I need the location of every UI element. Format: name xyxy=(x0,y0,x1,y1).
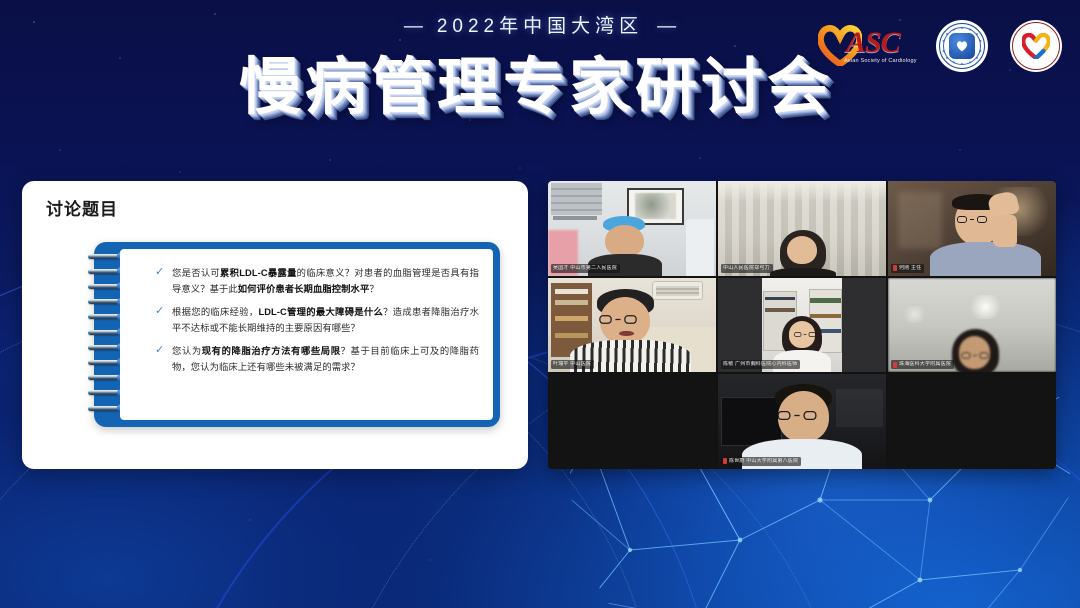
participant-tile-1[interactable]: 吴国才 中山市第二人民医院 xyxy=(548,181,716,276)
participant-name: 叶瑞平 中山医院 xyxy=(553,361,591,368)
guangdong-heart-logo xyxy=(1010,20,1062,72)
asc-acronym: ASC xyxy=(846,26,900,60)
topic-bullet: ✓您是否认可累积LDL-C暴露量的临床意义？对患者的血脂管理是否具有指导意义？基… xyxy=(172,265,479,297)
topic-emphasis: LDL-C管理的最大障碍是什么 xyxy=(258,307,383,317)
participant-name: 陈世蔚 中山大学附属第八医院 xyxy=(729,458,798,465)
participant-name: 珠海医科大学附属医院 xyxy=(899,361,951,368)
page-header: —2022年中国大湾区— 慢病管理专家研讨会 ASC Asia xyxy=(0,0,1080,132)
participant-name: 何刚 主任 xyxy=(899,265,921,272)
asc-logo: ASC Asian Society of Cardiology xyxy=(818,20,914,72)
muted-mic-icon xyxy=(893,265,897,271)
topic-emphasis: 现有的降脂治疗方法有哪些局限 xyxy=(202,346,341,356)
topics-list: ✓您是否认可累积LDL-C暴露量的临床意义？对患者的血脂管理是否具有指导意义？基… xyxy=(172,265,479,382)
participant-tile-5[interactable]: 陈敏 广州市胸科医院心内科医师 xyxy=(718,278,886,373)
topic-bullet: ✓您认为现有的降脂治疗方法有哪些局限？基于目前临床上可及的降脂药物，您认为临床上… xyxy=(172,343,479,375)
check-icon: ✓ xyxy=(155,306,166,317)
logo-group: ASC Asian Society of Cardiology xyxy=(818,20,1062,72)
participant-tile-4[interactable]: 叶瑞平 中山医院 xyxy=(548,278,716,373)
discussion-topics-panel: 讨论题目 ✓您是否认可累积LDL-C暴露量的临床意义？对患者的血脂管理是否具有指… xyxy=(22,181,528,469)
participant-name-bar: 陈敏 广州市胸科医院心内科医师 xyxy=(721,360,800,369)
notebook-card: ✓您是否认可累积LDL-C暴露量的临床意义？对患者的血脂管理是否具有指导意义？基… xyxy=(94,242,500,427)
kicker-dash-right: — xyxy=(657,16,676,38)
topic-text: 您是否认可累积LDL-C暴露量的临床意义？对患者的血脂管理是否具有指导意义？基于… xyxy=(172,265,479,297)
participant-name-bar: 陈世蔚 中山大学附属第八医院 xyxy=(721,457,801,466)
participant-tile-8[interactable]: 陈世蔚 中山大学附属第八医院 xyxy=(718,374,886,469)
check-icon: ✓ xyxy=(155,267,166,278)
asc-subtitle: Asian Society of Cardiology xyxy=(844,58,914,64)
society-seal-logo xyxy=(936,20,988,72)
participant-name: 中山人民医院郑弓力 xyxy=(723,265,770,272)
kicker-text: 2022年中国大湾区 xyxy=(437,16,643,37)
topic-plain: 您是否认可 xyxy=(172,268,220,278)
participant-tile-3[interactable]: 何刚 主任 xyxy=(888,181,1056,276)
presentation-stage: —2022年中国大湾区— 慢病管理专家研讨会 ASC Asia xyxy=(0,0,1080,608)
participant-name-bar: 珠海医科大学附属医院 xyxy=(891,360,954,369)
muted-mic-icon xyxy=(893,362,897,368)
tricolor-heart-icon xyxy=(1022,33,1050,59)
participant-tile-6[interactable]: 珠海医科大学附属医院 xyxy=(888,278,1056,373)
muted-mic-icon xyxy=(723,458,727,464)
topic-emphasis: 如何评价患者长期血脂控制水平 xyxy=(238,284,370,294)
participant-name: 陈敏 广州市胸科医院心内科医师 xyxy=(723,361,797,368)
participant-tile-2[interactable]: 中山人民医院郑弓力 xyxy=(718,181,886,276)
participant-tile-7[interactable] xyxy=(548,374,716,469)
participant-name-bar: 叶瑞平 中山医院 xyxy=(551,360,594,369)
participant-tile-9[interactable] xyxy=(888,374,1056,469)
participant-name-bar: 吴国才 中山市第二人民医院 xyxy=(551,264,620,273)
video-conference-grid[interactable]: 吴国才 中山市第二人民医院 中山人民医院郑弓力 何刚 主任 叶瑞平 中山医院 xyxy=(548,181,1056,469)
panel-title: 讨论题目 xyxy=(46,195,118,220)
topic-plain: ？ xyxy=(369,284,378,294)
notebook-page: ✓您是否认可累积LDL-C暴露量的临床意义？对患者的血脂管理是否具有指导意义？基… xyxy=(120,249,493,420)
topic-emphasis: 累积LDL-C暴露量 xyxy=(220,268,297,278)
topic-bullet: ✓根据您的临床经验，LDL-C管理的最大障碍是什么？造成患者降脂治疗水平不达标或… xyxy=(172,304,479,336)
topic-text: 根据您的临床经验，LDL-C管理的最大障碍是什么？造成患者降脂治疗水平不达标或不… xyxy=(172,304,479,336)
topic-plain: 您认为 xyxy=(172,346,202,356)
check-icon: ✓ xyxy=(155,345,166,356)
participant-name-bar: 中山人民医院郑弓力 xyxy=(721,264,773,273)
kicker-dash-left: — xyxy=(404,16,423,38)
topic-plain: 根据您的临床经验， xyxy=(172,307,258,317)
topic-text: 您认为现有的降脂治疗方法有哪些局限？基于目前临床上可及的降脂药物，您认为临床上还… xyxy=(172,343,479,375)
participant-name: 吴国才 中山市第二人民医院 xyxy=(553,265,617,272)
participant-name-bar: 何刚 主任 xyxy=(891,264,924,273)
